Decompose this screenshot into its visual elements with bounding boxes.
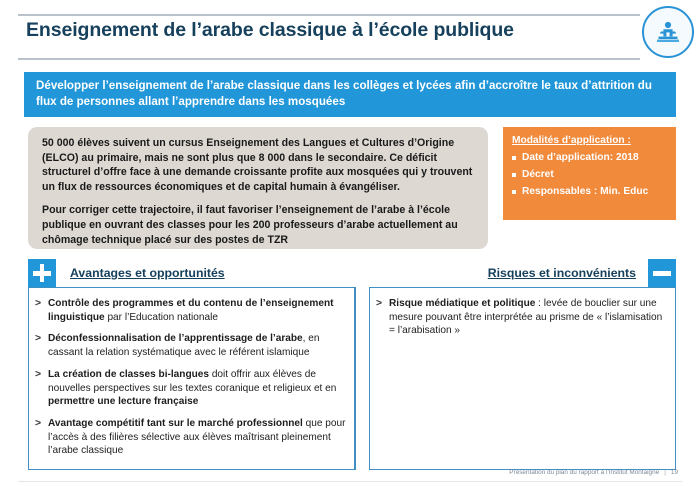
plus-icon — [28, 259, 56, 287]
header-rule-bottom — [18, 58, 640, 60]
advantages-header: Avantages et opportunités — [28, 259, 225, 287]
list-item-bold: Risque médiatique et politique — [389, 298, 535, 309]
institut-montaigne-logo-icon — [642, 6, 694, 58]
risks-header: Risques et inconvénients — [488, 259, 676, 287]
summary-paragraph: 50 000 élèves suivent un cursus Enseigne… — [42, 136, 474, 194]
chevron-right-icon: > — [35, 368, 48, 409]
advantages-title: Avantages et opportunités — [70, 266, 225, 280]
list-item: > Risque médiatique et politique : levée… — [376, 297, 667, 338]
minus-icon — [648, 259, 676, 287]
list-item-text: Déconfessionnalisation de l’apprentissag… — [48, 332, 346, 359]
modalities-item: Date d’application: 2018 — [512, 152, 667, 163]
list-item-text: La création de classes bi-langues doit o… — [48, 368, 346, 409]
list-item-bold: Avantage compétitif tant sur le marché p… — [48, 418, 303, 429]
risks-panel: > Risque médiatique et politique : levée… — [369, 287, 676, 470]
list-item: > Avantage compétitif tant sur le marché… — [35, 417, 346, 458]
list-item-rest: par l’Education nationale — [105, 312, 218, 323]
modalities-box: Modalités d’application : Date d’applica… — [503, 127, 676, 220]
page-number: 19 — [671, 469, 678, 476]
list-item: > La création de classes bi-langues doit… — [35, 368, 346, 409]
slide-canvas: Enseignement de l’arabe classique à l’éc… — [0, 0, 700, 486]
footer-separator: | — [664, 469, 666, 476]
chevron-right-icon: > — [35, 332, 48, 359]
list-item-text: Avantage compétitif tant sur le marché p… — [48, 417, 346, 458]
chevron-right-icon: > — [376, 297, 389, 338]
chevron-right-icon: > — [35, 417, 48, 458]
list-item: > Déconfessionnalisation de l’apprentiss… — [35, 332, 346, 359]
footer-rule — [18, 481, 682, 482]
list-item: > Contrôle des programmes et du contenu … — [35, 297, 346, 324]
list-item-bold: Déconfessionnalisation de l’apprentissag… — [48, 333, 303, 344]
objective-banner: Développer l’enseignement de l’arabe cla… — [24, 72, 676, 117]
list-item-bold-tail: permettre une lecture française — [48, 396, 198, 407]
footer-text: Présentation du plan du rapport à l’Inst… — [509, 469, 659, 476]
summary-box: 50 000 élèves suivent un cursus Enseigne… — [28, 127, 488, 249]
risks-title: Risques et inconvénients — [488, 266, 636, 280]
modalities-title: Modalités d’application : — [512, 135, 667, 146]
summary-paragraph: Pour corriger cette trajectoire, il faut… — [42, 203, 474, 247]
modalities-item: Décret — [512, 169, 667, 180]
risks-bullet-list: > Risque médiatique et politique : levée… — [370, 288, 675, 338]
modalities-item: Responsables : Min. Educ — [512, 186, 667, 197]
list-item-bold: La création de classes bi-langues — [48, 369, 209, 380]
advantages-panel: > Contrôle des programmes et du contenu … — [28, 287, 356, 470]
chevron-right-icon: > — [35, 297, 48, 324]
page-title: Enseignement de l’arabe classique à l’éc… — [26, 20, 636, 41]
footer: Présentation du plan du rapport à l’Inst… — [509, 469, 678, 476]
list-item-text: Contrôle des programmes et du contenu de… — [48, 297, 346, 324]
advantages-bullet-list: > Contrôle des programmes et du contenu … — [29, 288, 354, 458]
header-rule-top — [18, 14, 640, 16]
list-item-text: Risque médiatique et politique : levée d… — [389, 297, 667, 338]
